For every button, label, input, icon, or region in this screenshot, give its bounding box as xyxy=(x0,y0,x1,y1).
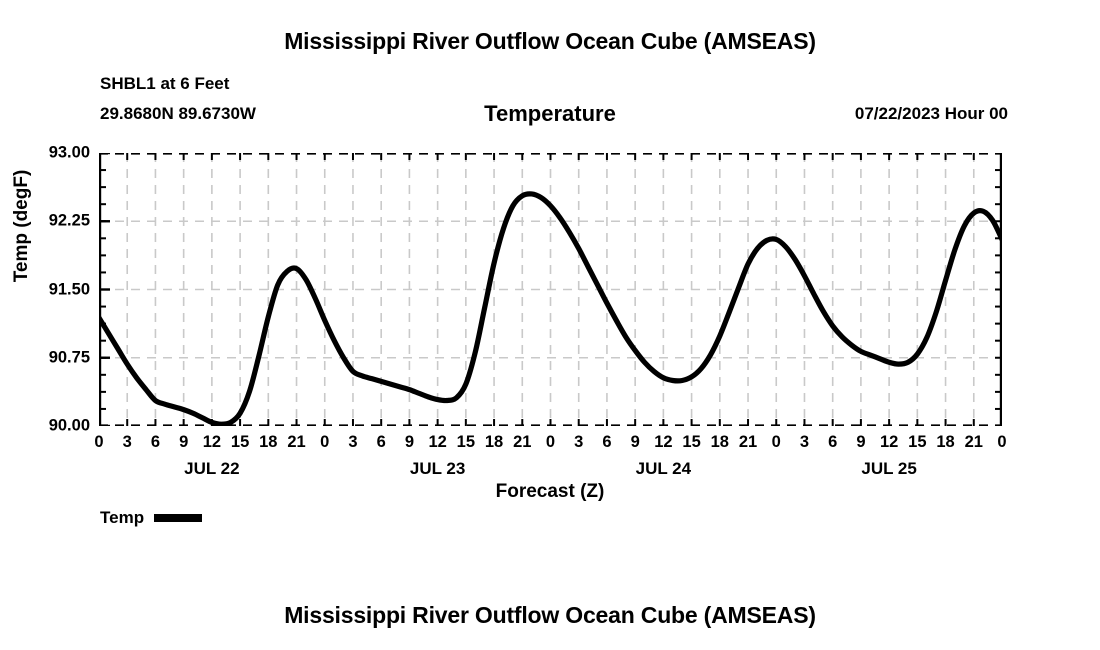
x-tick-label: 3 xyxy=(123,433,132,452)
x-axis-title: Forecast (Z) xyxy=(0,481,1100,503)
page-title-bottom: Mississippi River Outflow Ocean Cube (AM… xyxy=(0,602,1100,629)
x-tick-label: 9 xyxy=(405,433,414,452)
x-tick-label: 6 xyxy=(377,433,386,452)
x-tick-label: 18 xyxy=(259,433,277,452)
x-day-labels: JUL 22JUL 23JUL 24JUL 25 xyxy=(99,459,1002,483)
x-tick-label: 0 xyxy=(320,433,329,452)
legend-swatch-temp xyxy=(154,514,202,522)
legend: Temp xyxy=(100,508,202,528)
x-tick-label: 15 xyxy=(908,433,926,452)
x-tick-label: 15 xyxy=(231,433,249,452)
x-tick-label: 12 xyxy=(203,433,221,452)
y-tick-label: 91.50 xyxy=(10,280,90,299)
page-title-top: Mississippi River Outflow Ocean Cube (AM… xyxy=(0,28,1100,55)
x-tick-label: 0 xyxy=(772,433,781,452)
y-tick-label: 90.75 xyxy=(10,348,90,367)
x-day-label: JUL 23 xyxy=(410,459,465,479)
x-tick-label: 12 xyxy=(654,433,672,452)
x-tick-label: 9 xyxy=(856,433,865,452)
x-tick-label: 0 xyxy=(94,433,103,452)
chart-page: Mississippi River Outflow Ocean Cube (AM… xyxy=(0,0,1100,650)
x-tick-label: 6 xyxy=(151,433,160,452)
x-tick-label: 21 xyxy=(965,433,983,452)
x-tick-label: 12 xyxy=(880,433,898,452)
x-tick-label: 9 xyxy=(179,433,188,452)
x-tick-label: 9 xyxy=(631,433,640,452)
y-tick-label: 92.25 xyxy=(10,212,90,231)
x-tick-labels: 0369121518210369121518210369121518210369… xyxy=(99,433,1002,455)
x-tick-label: 3 xyxy=(574,433,583,452)
y-tick-label: 90.00 xyxy=(10,417,90,436)
x-day-label: JUL 25 xyxy=(861,459,916,479)
x-tick-label: 21 xyxy=(739,433,757,452)
y-tick-label: 93.00 xyxy=(10,144,90,163)
plot-area xyxy=(99,153,1002,426)
x-day-label: JUL 24 xyxy=(636,459,691,479)
x-tick-label: 6 xyxy=(602,433,611,452)
x-tick-label: 15 xyxy=(457,433,475,452)
y-tick-labels: 93.0092.2591.5090.7590.00 xyxy=(10,153,90,426)
x-tick-label: 12 xyxy=(428,433,446,452)
x-tick-label: 3 xyxy=(348,433,357,452)
temperature-line-chart xyxy=(99,153,1002,426)
x-tick-label: 6 xyxy=(828,433,837,452)
x-tick-label: 0 xyxy=(546,433,555,452)
x-tick-label: 18 xyxy=(711,433,729,452)
x-tick-label: 15 xyxy=(682,433,700,452)
x-tick-label: 21 xyxy=(513,433,531,452)
x-tick-label: 0 xyxy=(997,433,1006,452)
model-run-label: 07/22/2023 Hour 00 xyxy=(855,104,1008,124)
x-tick-label: 3 xyxy=(800,433,809,452)
x-day-label: JUL 22 xyxy=(184,459,239,479)
x-tick-label: 18 xyxy=(936,433,954,452)
legend-label-temp: Temp xyxy=(100,508,144,528)
x-tick-label: 21 xyxy=(287,433,305,452)
x-tick-label: 18 xyxy=(485,433,503,452)
station-label: SHBL1 at 6 Feet xyxy=(100,74,229,94)
